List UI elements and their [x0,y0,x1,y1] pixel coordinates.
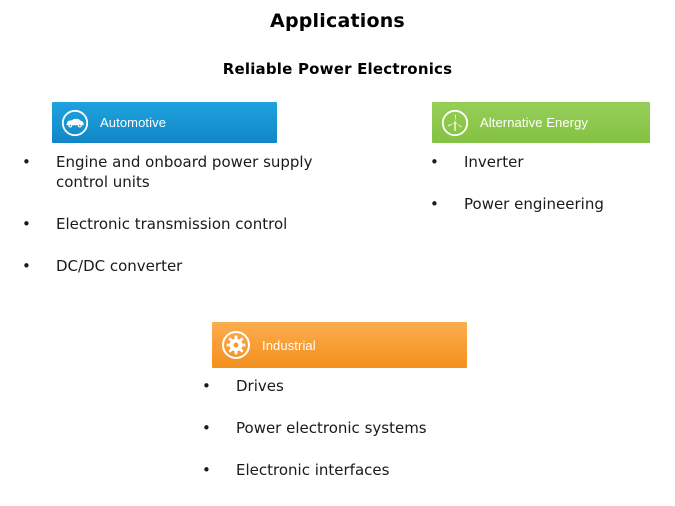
list-item: • Electronic interfaces [202,460,502,480]
list-item: • Power engineering [430,194,670,214]
car-icon [60,108,90,138]
list-item-label: Engine and onboard power supply control … [56,152,316,192]
page-title: Applications [0,10,675,32]
gear-icon [220,329,252,361]
bullet-marker: • [22,256,56,276]
banner-alternative-energy-label: Alternative Energy [480,115,588,130]
banner-industrial[interactable]: Industrial [212,322,467,368]
bullet-marker: • [202,418,236,438]
bullet-marker: • [430,194,464,214]
bullet-list-industrial: • Drives • Power electronic systems • El… [202,376,502,502]
list-item-label: Power engineering [464,194,604,214]
page-subtitle: Reliable Power Electronics [0,60,675,78]
list-item-label: Inverter [464,152,523,172]
list-item: • Drives [202,376,502,396]
wind-turbine-icon [440,108,470,138]
banner-automotive-label: Automotive [100,115,166,130]
bullet-marker: • [430,152,464,172]
slide-canvas: Applications Reliable Power Electronics … [0,0,675,506]
bullet-marker: • [202,376,236,396]
list-item: • Inverter [430,152,670,172]
list-item: • DC/DC converter [22,256,352,276]
list-item: • Electronic transmission control [22,214,352,234]
list-item-label: Electronic interfaces [236,460,389,480]
bullet-marker: • [202,460,236,480]
list-item-label: Drives [236,376,284,396]
bullet-list-automotive: • Engine and onboard power supply contro… [22,152,352,298]
list-item-label: Electronic transmission control [56,214,287,234]
bullet-list-alternative-energy: • Inverter • Power engineering [430,152,670,236]
bullet-marker: • [22,214,56,234]
bullet-marker: • [22,152,56,172]
list-item: • Power electronic systems [202,418,502,438]
list-item: • Engine and onboard power supply contro… [22,152,352,192]
banner-industrial-label: Industrial [262,338,316,353]
banner-alternative-energy[interactable]: Alternative Energy [432,102,650,143]
banner-automotive[interactable]: Automotive [52,102,277,143]
list-item-label: Power electronic systems [236,418,427,438]
list-item-label: DC/DC converter [56,256,182,276]
